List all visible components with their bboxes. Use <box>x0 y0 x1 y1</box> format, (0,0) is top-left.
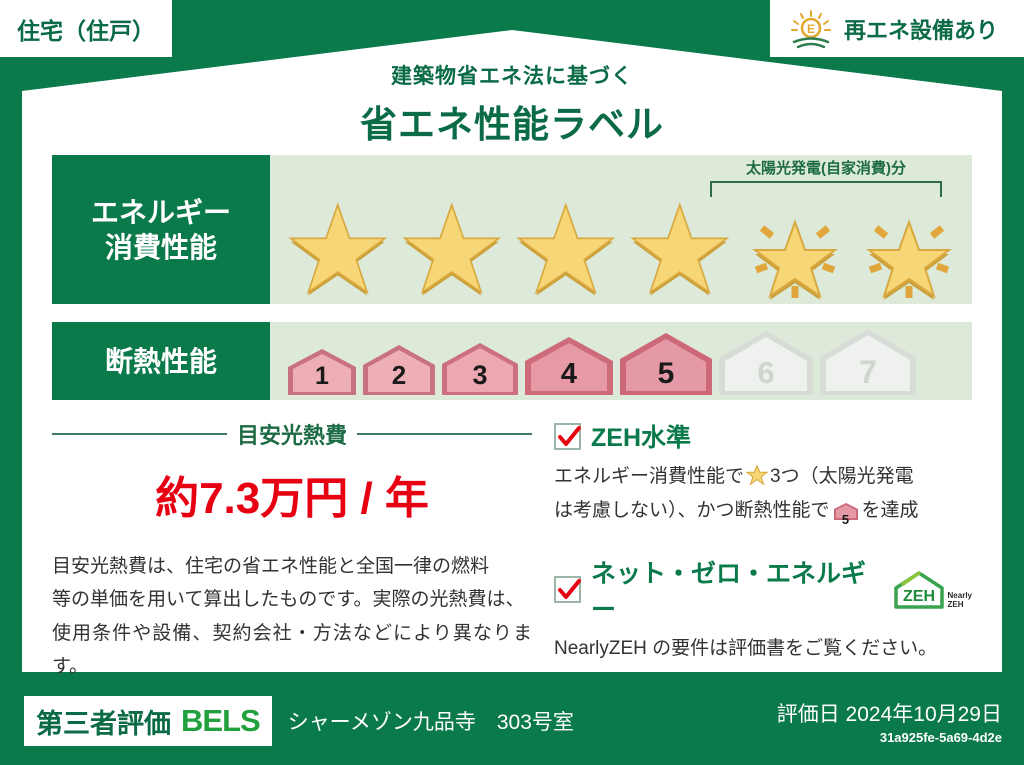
zeh-standard-title: ZEH水準 <box>591 418 691 454</box>
insulation-level-7: 7 <box>818 327 918 397</box>
cost-rule-right <box>357 433 532 435</box>
insulation-level-5-number: 5 <box>618 357 714 391</box>
check-icon <box>557 425 582 450</box>
zeh-column: ZEH水準 エネルギー消費性能で3つ（太陽光発電 は考慮しない）、かつ断熱性能で… <box>532 418 972 683</box>
star-filled-2 <box>398 188 508 300</box>
page-title: 省エネ性能ラベル <box>0 94 1024 148</box>
label-header: 建築物省エネ法に基づく 省エネ性能ラベル <box>0 60 1024 148</box>
zeh-netzero-head: ネット・ゼロ・エネルギー ZEH Nearly ZEH <box>554 554 972 626</box>
star-filled-3 <box>512 188 622 300</box>
cost-heading-text: 目安光熱費 <box>237 418 347 450</box>
zeh-standard-note: エネルギー消費性能で3つ（太陽光発電 は考慮しない）、かつ断熱性能で5を達成 <box>554 462 972 532</box>
checkbox-zeh-standard[interactable] <box>554 423 581 450</box>
badge-renewable-equipment: E 再エネ設備あり <box>770 0 1024 57</box>
insulation-level-scale: 1 2 3 <box>286 327 918 397</box>
badge-dwelling-label: 住宅（住戸） <box>17 12 155 46</box>
bels-badge: 第三者評価 BELS <box>24 696 272 746</box>
row-energy-label-line1: エネルギー <box>91 195 231 230</box>
svg-text:ZEH: ZEH <box>903 588 935 605</box>
insulation-level-4: 4 <box>523 335 615 397</box>
zeh-standard-head: ZEH水準 <box>554 418 972 454</box>
zeh-netzero-block: ネット・ゼロ・エネルギー ZEH Nearly ZEH NearlyZEH <box>554 554 972 664</box>
rating-rows: エネルギー 消費性能 太陽光発電(自家消費)分 <box>52 155 972 400</box>
bels-badge-jp: 第三者評価 <box>36 702 171 741</box>
cost-heading: 目安光熱費 <box>52 418 532 450</box>
cost-value: 約7.3万円 / 年 <box>52 462 532 526</box>
zeh-standard-note-line1-b: 3つ（太陽光発電 <box>770 466 914 487</box>
insulation-level-7-number: 7 <box>818 354 918 391</box>
star-solar-6 <box>854 188 964 300</box>
property-name: シャーメゾン九品寺 303号室 <box>288 706 574 736</box>
zeh-logo-sub-line2: ZEH <box>948 600 964 609</box>
bels-badge-en: BELS <box>181 703 260 739</box>
zeh-standard-note-line1-a: エネルギー消費性能で <box>554 466 744 487</box>
insulation-level-4-number: 4 <box>523 358 615 391</box>
badge-renewable-label: 再エネ設備あり <box>844 13 998 45</box>
insulation-level-6-number: 6 <box>717 355 815 391</box>
row-insulation-label: 断熱性能 <box>52 322 270 400</box>
inline-house-number: 5 <box>833 510 859 531</box>
zeh-standard-note-line2-a: は考慮しない）、かつ断熱性能で <box>554 500 830 521</box>
zeh-standard-note-line2-b: を達成 <box>862 500 919 521</box>
cost-note-line-1: 目安光熱費は、住宅の省エネ性能と全国一律の燃料 <box>52 550 532 583</box>
row-insulation-body: 1 2 3 <box>270 322 972 400</box>
insulation-level-2: 2 <box>361 343 437 397</box>
header-subtitle: 建築物省エネ法に基づく <box>0 60 1024 90</box>
inline-star-icon <box>746 470 768 491</box>
insulation-level-6: 6 <box>717 329 815 397</box>
evaluation-uid: 31a925fe-5a69-4d2e <box>777 730 1002 745</box>
row-energy-label: エネルギー 消費性能 <box>52 155 270 304</box>
footer-bar: 第三者評価 BELS シャーメゾン九品寺 303号室 評価日 2024年10月2… <box>0 677 1024 765</box>
insulation-level-5: 5 <box>618 331 714 397</box>
zeh-logo-sub-line1: Nearly <box>948 591 972 600</box>
row-energy-performance: エネルギー 消費性能 太陽光発電(自家消費)分 <box>52 155 972 304</box>
check-icon <box>557 578 582 603</box>
row-insulation-label-text: 断熱性能 <box>105 344 217 379</box>
cost-note-line-2: 等の単価を用いて算出したものです。実際の光熱費は、 <box>52 583 532 616</box>
lower-content: 目安光熱費 約7.3万円 / 年 目安光熱費は、住宅の省エネ性能と全国一律の燃料… <box>52 418 972 683</box>
solar-sun-icon: E <box>786 9 836 49</box>
checkbox-zeh-netzero[interactable] <box>554 576 581 603</box>
zeh-standard-block: ZEH水準 エネルギー消費性能で3つ（太陽光発電 は考慮しない）、かつ断熱性能で… <box>554 418 972 532</box>
zeh-netzero-title: ネット・ゼロ・エネルギー <box>591 554 875 626</box>
cost-rule-left <box>52 433 227 435</box>
row-energy-label-line2: 消費性能 <box>105 230 217 265</box>
zeh-logo-sub: Nearly ZEH <box>948 592 972 610</box>
zeh-logo: ZEH Nearly ZEH <box>893 570 972 610</box>
star-rating <box>284 182 962 300</box>
badge-dwelling-type: 住宅（住戸） <box>0 0 172 57</box>
row-insulation-performance: 断熱性能 1 <box>52 322 972 400</box>
inline-house-badge: 5 <box>833 501 859 531</box>
insulation-level-3: 3 <box>440 341 520 397</box>
row-energy-body: 太陽光発電(自家消費)分 <box>270 155 972 304</box>
evaluation-date: 評価日 2024年10月29日 <box>777 698 1002 728</box>
bels-energy-label: 住宅（住戸） E 再エネ設備あり 建 <box>0 0 1024 765</box>
star-solar-5 <box>740 188 850 300</box>
star-filled-4 <box>626 188 736 300</box>
zeh-netzero-note: NearlyZEH の要件は評価書をご覧ください。 <box>554 634 972 664</box>
star-filled-1 <box>284 188 394 300</box>
solar-bracket-label: 太陽光発電(自家消費)分 <box>700 157 952 178</box>
cost-note-line-3: 使用条件や設備、契約会社・方法などにより異なります。 <box>52 617 532 684</box>
svg-text:E: E <box>807 22 815 36</box>
cost-column: 目安光熱費 約7.3万円 / 年 目安光熱費は、住宅の省エネ性能と全国一律の燃料… <box>52 418 532 683</box>
insulation-level-2-number: 2 <box>361 360 437 391</box>
footer-meta: 評価日 2024年10月29日 31a925fe-5a69-4d2e <box>777 698 1002 745</box>
zeh-house-logo-icon: ZEH <box>893 570 945 610</box>
insulation-level-1-number: 1 <box>286 362 358 391</box>
cost-note: 目安光熱費は、住宅の省エネ性能と全国一律の燃料 等の単価を用いて算出したものです… <box>52 550 532 683</box>
insulation-level-3-number: 3 <box>440 360 520 391</box>
insulation-level-1: 1 <box>286 347 358 397</box>
